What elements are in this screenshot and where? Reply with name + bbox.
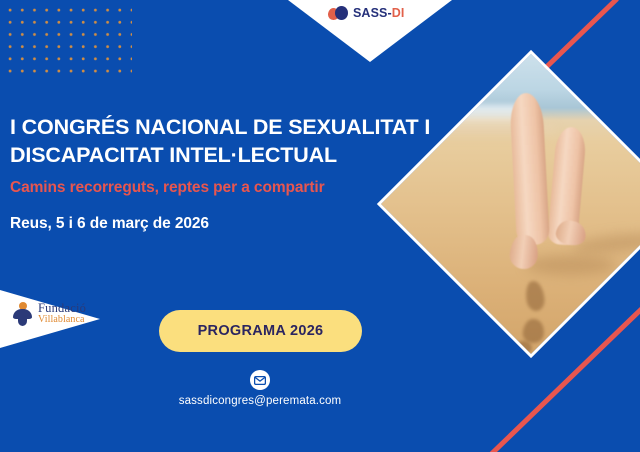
photo-image <box>377 50 640 358</box>
fundacio-logo-text: Fundació Villablanca <box>38 302 86 325</box>
sassdi-logo-text-main: SASS- <box>353 6 392 20</box>
sassdi-logo-text-accent: DI <box>392 6 405 20</box>
contact-email[interactable]: sassdicongres@peremata.com <box>179 395 342 407</box>
programa-2026-button[interactable]: PROGRAMA 2026 <box>159 310 362 352</box>
sassdi-circles-icon <box>328 5 350 21</box>
fundacio-villablanca-logo: Fundació Villablanca <box>12 302 86 326</box>
dot-grid-decoration <box>4 4 132 74</box>
event-date-location: Reus, 5 i 6 de març de 2026 <box>10 215 440 233</box>
footprint-1 <box>524 280 546 312</box>
envelope-icon <box>250 370 270 390</box>
contact-block: sassdicongres@peremata.com <box>0 370 520 407</box>
footprint-2 <box>522 318 545 344</box>
fundacio-figure-icon <box>12 302 33 326</box>
beach-footprints-photo <box>377 50 640 358</box>
congress-poster: SASS-DI Fundació Villablanca I CONGRÉS N… <box>0 0 640 452</box>
leg-front <box>509 92 550 246</box>
sassdi-logo-text: SASS-DI <box>353 7 404 20</box>
fundacio-logo-line2: Villablanca <box>38 315 86 325</box>
sassdi-logo: SASS-DI <box>328 4 404 22</box>
leg-shadow-front <box>526 255 616 275</box>
page-title: I CONGRÉS NACIONAL DE SEXUALITAT I DISCA… <box>10 113 440 170</box>
page-subtitle: Camins recorreguts, reptes per a compart… <box>10 179 440 197</box>
